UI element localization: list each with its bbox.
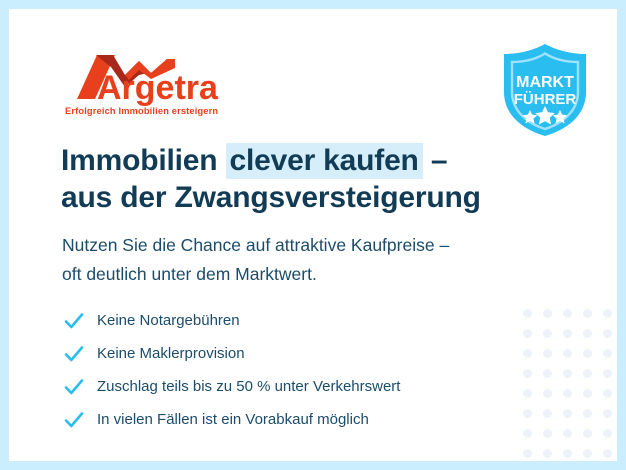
decorative-dot (563, 329, 572, 338)
decorative-dot (603, 309, 612, 318)
list-item: Zuschlag teils bis zu 50 % unter Verkehr… (63, 371, 513, 402)
decorative-dot (563, 409, 572, 418)
decorative-dot (603, 389, 612, 398)
list-item-label: In vielen Fällen ist ein Vorabkauf mögli… (97, 410, 369, 430)
decorative-dot (543, 409, 552, 418)
headline-highlight: clever kaufen (226, 143, 423, 179)
promo-banner: Argetra Erfolgreich Immobilien ersteiger… (0, 0, 626, 470)
decorative-dot (603, 449, 612, 458)
decorative-dot (563, 349, 572, 358)
decorative-dot (543, 349, 552, 358)
list-item: In vielen Fällen ist ein Vorabkauf mögli… (63, 404, 513, 435)
decorative-dot (603, 429, 612, 438)
check-icon (63, 310, 85, 332)
decorative-dot (583, 409, 592, 418)
decorative-dot (543, 389, 552, 398)
headline-line-1-after: – (423, 144, 448, 177)
marktfuehrer-badge: MARKT FÜHRER (498, 42, 592, 138)
decorative-dot (603, 369, 612, 378)
decorative-dot (543, 369, 552, 378)
decorative-dot (583, 429, 592, 438)
decorative-dot (543, 449, 552, 458)
decorative-dot (523, 389, 532, 398)
decorative-dot (603, 349, 612, 358)
decorative-dot (543, 429, 552, 438)
list-item: Keine Maklerprovision (63, 338, 513, 369)
logo-tagline: Erfolgreich Immobilien ersteigern (65, 106, 218, 116)
decorative-dot (603, 409, 612, 418)
banner-card: Argetra Erfolgreich Immobilien ersteiger… (9, 9, 617, 461)
decorative-dot (583, 369, 592, 378)
decorative-dot (523, 329, 532, 338)
subheadline-line-1: Nutzen Sie die Chance auf attraktive Kau… (62, 231, 542, 260)
decorative-dot (563, 389, 572, 398)
badge-line-2: FÜHRER (514, 91, 577, 108)
decorative-dot (603, 329, 612, 338)
list-item-label: Zuschlag teils bis zu 50 % unter Verkehr… (97, 377, 400, 397)
check-icon (63, 409, 85, 431)
decorative-dot (543, 329, 552, 338)
headline-line-1: Immobilien clever kaufen – (61, 142, 531, 179)
argetra-logo: Argetra Erfolgreich Immobilien ersteiger… (63, 53, 253, 119)
check-icon (63, 343, 85, 365)
decorative-dot (583, 389, 592, 398)
subheadline-line-2: oft deutlich unter dem Marktwert. (62, 260, 542, 289)
decorative-dot (563, 449, 572, 458)
decorative-dot (583, 449, 592, 458)
headline-line-2: aus der Zwangsversteigerung (61, 179, 531, 216)
decorative-dot (543, 309, 552, 318)
badge-line-1: MARKT (516, 74, 574, 91)
decorative-dot (563, 429, 572, 438)
decorative-dot-grid (523, 309, 617, 461)
decorative-dot (523, 449, 532, 458)
decorative-dot (583, 349, 592, 358)
decorative-dot (523, 309, 532, 318)
benefits-list: Keine NotargebührenKeine Maklerprovision… (63, 305, 513, 437)
decorative-dot (523, 429, 532, 438)
logo-wordmark: Argetra (97, 69, 219, 107)
decorative-dot (523, 349, 532, 358)
decorative-dot (523, 369, 532, 378)
headline: Immobilien clever kaufen – aus der Zwang… (61, 142, 531, 216)
decorative-dot (563, 309, 572, 318)
list-item-label: Keine Notargebühren (97, 311, 240, 331)
list-item-label: Keine Maklerprovision (97, 344, 245, 364)
shield-badge-icon: MARKT FÜHRER (498, 42, 592, 138)
subheadline: Nutzen Sie die Chance auf attraktive Kau… (62, 231, 542, 289)
argetra-logo-icon: Argetra Erfolgreich Immobilien ersteiger… (63, 53, 253, 119)
decorative-dot (583, 329, 592, 338)
check-icon (63, 376, 85, 398)
decorative-dot (523, 409, 532, 418)
decorative-dot (583, 309, 592, 318)
decorative-dot (563, 369, 572, 378)
headline-line-1-before: Immobilien (61, 144, 226, 177)
list-item: Keine Notargebühren (63, 305, 513, 336)
